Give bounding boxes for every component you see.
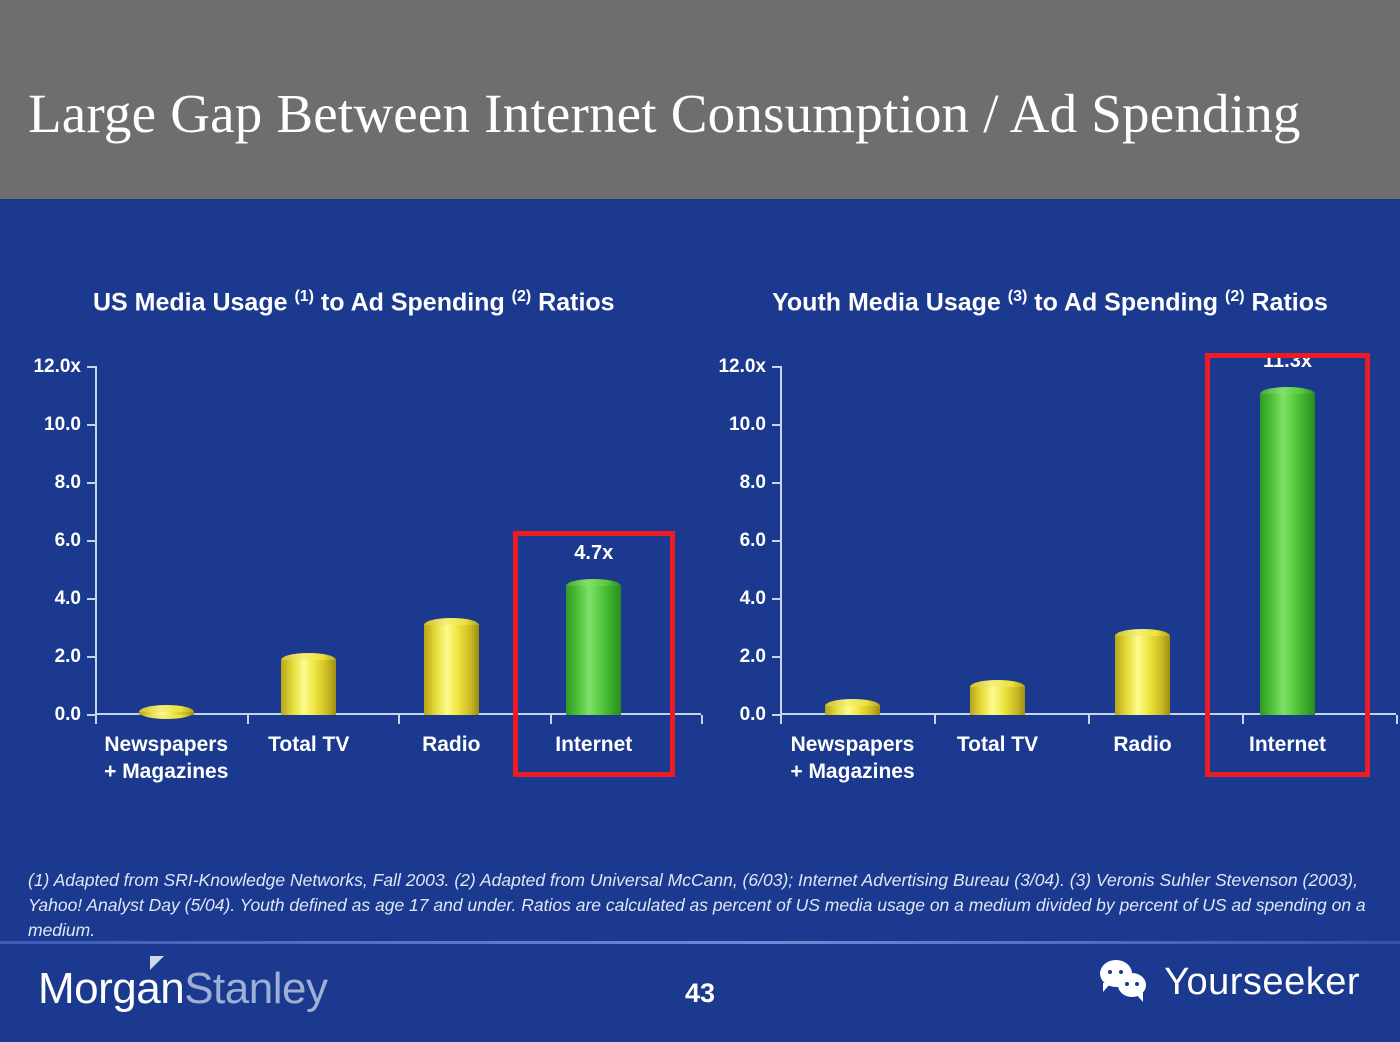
charts-container: US Media Usage (1) to Ad Spending (2) Ra…: [0, 199, 1400, 839]
slide-footer: MorganStanley 43 Yourseeker: [0, 944, 1400, 1042]
y-tick-label: 4.0: [740, 588, 766, 610]
bar-cell: [780, 367, 925, 715]
category-label: Internet: [523, 715, 666, 785]
chart-title-us-c: Ratios: [531, 288, 614, 316]
chart-title-us-sup1: (1): [294, 288, 314, 305]
bar-internet: [1260, 387, 1315, 715]
bar-internet: [566, 579, 621, 715]
x-tick: [1396, 715, 1398, 724]
bar-cell: [95, 367, 238, 715]
yourseeker-label: Yourseeker: [1164, 961, 1360, 1004]
chart-title-youth-sup1: (3): [1008, 288, 1028, 305]
category-label: Internet: [1215, 715, 1360, 785]
bar-cell: 4.7x: [523, 367, 666, 715]
chart-title-us-b: to Ad Spending: [314, 288, 512, 316]
y-tick-label: 8.0: [740, 472, 766, 494]
bar-group-us: 4.7x: [95, 367, 665, 715]
category-label-line: Total TV: [925, 731, 1070, 758]
category-label-line: + Magazines: [780, 758, 925, 785]
y-tick-label: 10.0: [729, 414, 766, 436]
bar-radio: [424, 618, 479, 715]
y-tick-label: 2.0: [740, 646, 766, 668]
chart-title-youth-sup2: (2): [1225, 288, 1245, 305]
chart-title-youth-a: Youth Media Usage: [772, 288, 1008, 316]
category-label-line: Newspapers: [95, 731, 238, 758]
chart-panel-us-media-usage: US Media Usage (1) to Ad Spending (2) Ra…: [0, 199, 700, 839]
bar-total-tv: [281, 653, 336, 715]
bar-value-label: 4.7x: [574, 542, 613, 565]
category-label: Radio: [1070, 715, 1215, 785]
bar-value-label: 11.3x: [1263, 350, 1312, 373]
y-tick-label: 6.0: [55, 530, 81, 552]
slide: Large Gap Between Internet Consumption /…: [0, 0, 1400, 1042]
chart-title-us-a: US Media Usage: [93, 288, 294, 316]
bar-cell: [925, 367, 1070, 715]
y-tick-label: 10.0: [44, 414, 81, 436]
category-label: Total TV: [238, 715, 381, 785]
chart-panel-youth-media-usage: Youth Media Usage (3) to Ad Spending (2)…: [700, 199, 1400, 839]
wechat-icon: [1100, 960, 1152, 1004]
plot-area-youth: 0.02.04.06.08.010.012.0x 11.3x: [780, 367, 1360, 715]
category-label-line: Internet: [1215, 731, 1360, 758]
category-label: Radio: [380, 715, 523, 785]
category-label-line: Newspapers: [780, 731, 925, 758]
y-tick-label: 2.0: [55, 646, 81, 668]
bar-cell: [1070, 367, 1215, 715]
category-label-line: Radio: [380, 731, 523, 758]
yourseeker-branding: Yourseeker: [1100, 960, 1360, 1004]
chart-title-youth-c: Ratios: [1245, 288, 1328, 316]
bar-radio: [1115, 629, 1170, 715]
plot-area-us: 0.02.04.06.08.010.012.0x 4.7x: [95, 367, 665, 715]
y-tick-label: 12.0x: [33, 356, 81, 378]
bar-group-youth: 11.3x: [780, 367, 1360, 715]
footnote-text: (1) Adapted from SRI-Knowledge Networks,…: [28, 868, 1368, 943]
bar-newspapers-magazines: [825, 699, 880, 715]
category-label-line: + Magazines: [95, 758, 238, 785]
category-label: Newspapers+ Magazines: [95, 715, 238, 785]
bar-cell: [238, 367, 381, 715]
y-tick-label: 6.0: [740, 530, 766, 552]
category-label-line: Radio: [1070, 731, 1215, 758]
bar-cell: 11.3x: [1215, 367, 1360, 715]
bar-newspapers-magazines: [139, 705, 194, 715]
bar-total-tv: [970, 680, 1025, 715]
chart-title-youth-b: to Ad Spending: [1027, 288, 1225, 316]
slide-header: Large Gap Between Internet Consumption /…: [0, 0, 1400, 199]
category-label-line: Internet: [523, 731, 666, 758]
y-tick-label: 12.0x: [718, 356, 766, 378]
page-title: Large Gap Between Internet Consumption /…: [28, 84, 1301, 144]
y-tick-label: 4.0: [55, 588, 81, 610]
category-label-line: Total TV: [238, 731, 381, 758]
category-label: Total TV: [925, 715, 1070, 785]
category-labels-us: Newspapers+ MagazinesTotal TVRadioIntern…: [95, 715, 665, 785]
chart-title-us-sup2: (2): [512, 288, 532, 305]
category-label: Newspapers+ Magazines: [780, 715, 925, 785]
y-tick-label: 0.0: [740, 704, 766, 726]
bar-cell: [380, 367, 523, 715]
category-labels-youth: Newspapers+ MagazinesTotal TVRadioIntern…: [780, 715, 1360, 785]
y-tick-label: 8.0: [55, 472, 81, 494]
y-tick-label: 0.0: [55, 704, 81, 726]
morgan-stanley-triangle-icon: [150, 956, 164, 970]
chart-title-youth: Youth Media Usage (3) to Ad Spending (2)…: [700, 279, 1400, 320]
chart-title-us: US Media Usage (1) to Ad Spending (2) Ra…: [0, 279, 700, 320]
